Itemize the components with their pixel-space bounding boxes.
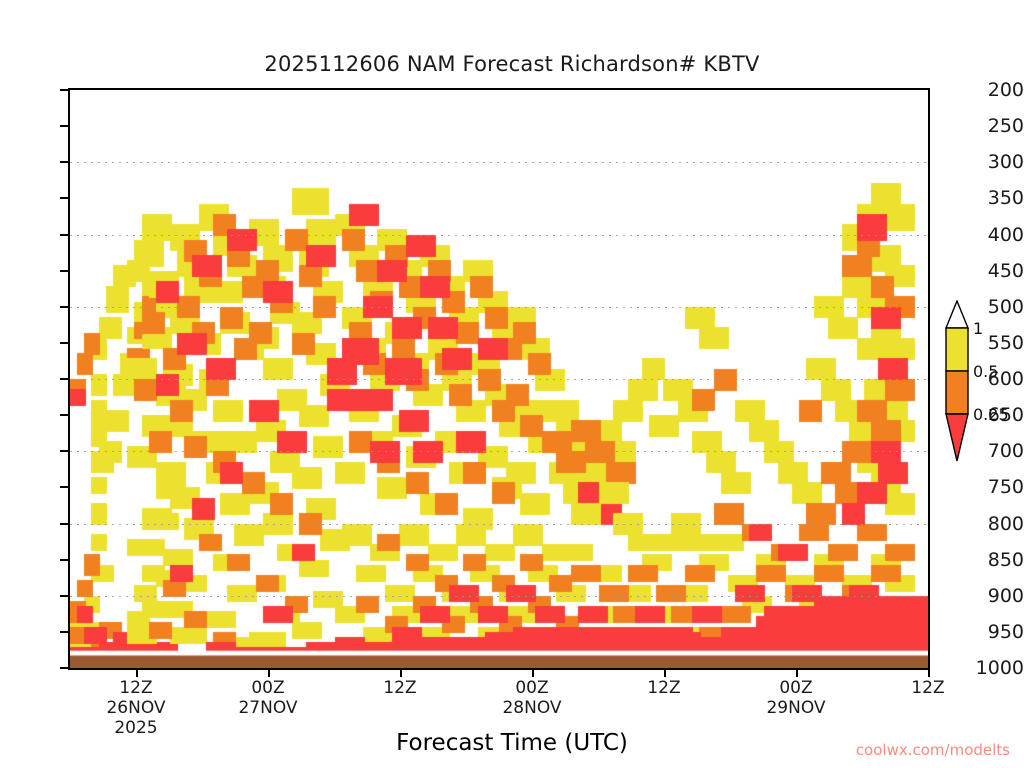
y-tick-mark bbox=[60, 197, 68, 199]
y-tick-mark bbox=[60, 161, 68, 163]
y-tick-label: 750 bbox=[962, 476, 1024, 498]
x-tick-line: 12Z bbox=[340, 678, 460, 698]
y-tick-mark bbox=[60, 89, 68, 91]
y-tick-label: 350 bbox=[962, 187, 1024, 209]
x-tick-mark bbox=[796, 670, 798, 677]
x-tick-line: 26NOV bbox=[76, 698, 196, 718]
richardson-heatmap bbox=[70, 90, 928, 668]
y-tick-label: 950 bbox=[962, 621, 1024, 643]
credit-watermark: coolwx.com/modelts bbox=[856, 741, 1010, 759]
x-tick-line: 12Z bbox=[604, 678, 724, 698]
x-tick-label: 00Z29NOV bbox=[736, 678, 856, 718]
y-tick-mark bbox=[60, 486, 68, 488]
x-tick-label: 00Z28NOV bbox=[472, 678, 592, 718]
x-tick-label: 12Z bbox=[340, 678, 460, 698]
x-tick-label: 00Z27NOV bbox=[208, 678, 328, 718]
y-tick-mark bbox=[60, 559, 68, 561]
y-tick-mark bbox=[60, 595, 68, 597]
y-tick-mark bbox=[60, 125, 68, 127]
colorbar-tick-label: 0.5 bbox=[973, 362, 998, 381]
y-tick-label: 1000 bbox=[962, 657, 1024, 679]
y-tick-label: 850 bbox=[962, 549, 1024, 571]
x-tick-mark bbox=[136, 670, 138, 677]
y-tick-mark bbox=[60, 342, 68, 344]
y-tick-label: 300 bbox=[962, 151, 1024, 173]
y-tick-mark bbox=[60, 378, 68, 380]
x-tick-line: 00Z bbox=[208, 678, 328, 698]
y-tick-label: 250 bbox=[962, 115, 1024, 137]
y-tick-mark bbox=[60, 631, 68, 633]
x-tick-label: 12Z bbox=[868, 678, 988, 698]
x-tick-mark bbox=[532, 670, 534, 677]
x-tick-line: 29NOV bbox=[736, 698, 856, 718]
colorbar-tick-label: 0.25 bbox=[973, 405, 1009, 424]
y-tick-mark bbox=[60, 523, 68, 525]
chart-page: 2025112606 NAM Forecast Richardson# KBTV… bbox=[0, 0, 1024, 768]
x-tick-line: 28NOV bbox=[472, 698, 592, 718]
y-tick-mark bbox=[60, 306, 68, 308]
colorbar-legend: 10.50.25 bbox=[943, 300, 1023, 475]
y-tick-mark bbox=[60, 450, 68, 452]
y-tick-label: 200 bbox=[962, 79, 1024, 101]
y-tick-label: 400 bbox=[962, 224, 1024, 246]
y-tick-label: 450 bbox=[962, 260, 1024, 282]
x-tick-line: 12Z bbox=[868, 678, 988, 698]
y-tick-mark bbox=[60, 270, 68, 272]
x-tick-mark bbox=[400, 670, 402, 677]
x-tick-line: 00Z bbox=[736, 678, 856, 698]
x-tick-mark bbox=[928, 670, 930, 677]
x-tick-line: 00Z bbox=[472, 678, 592, 698]
y-tick-label: 900 bbox=[962, 585, 1024, 607]
x-tick-mark bbox=[268, 670, 270, 677]
x-tick-label: 12Z26NOV2025 bbox=[76, 678, 196, 738]
plot-area bbox=[68, 88, 930, 670]
y-tick-label: 800 bbox=[962, 513, 1024, 535]
x-tick-label: 12Z bbox=[604, 678, 724, 698]
y-tick-mark bbox=[60, 234, 68, 236]
x-tick-line: 12Z bbox=[76, 678, 196, 698]
x-tick-line: 27NOV bbox=[208, 698, 328, 718]
colorbar-tick-label: 1 bbox=[973, 319, 983, 338]
page-title: 2025112606 NAM Forecast Richardson# KBTV bbox=[0, 52, 1024, 76]
gridline-1000 bbox=[70, 668, 928, 669]
x-tick-mark bbox=[664, 670, 666, 677]
y-tick-mark bbox=[60, 667, 68, 669]
y-tick-mark bbox=[60, 414, 68, 416]
